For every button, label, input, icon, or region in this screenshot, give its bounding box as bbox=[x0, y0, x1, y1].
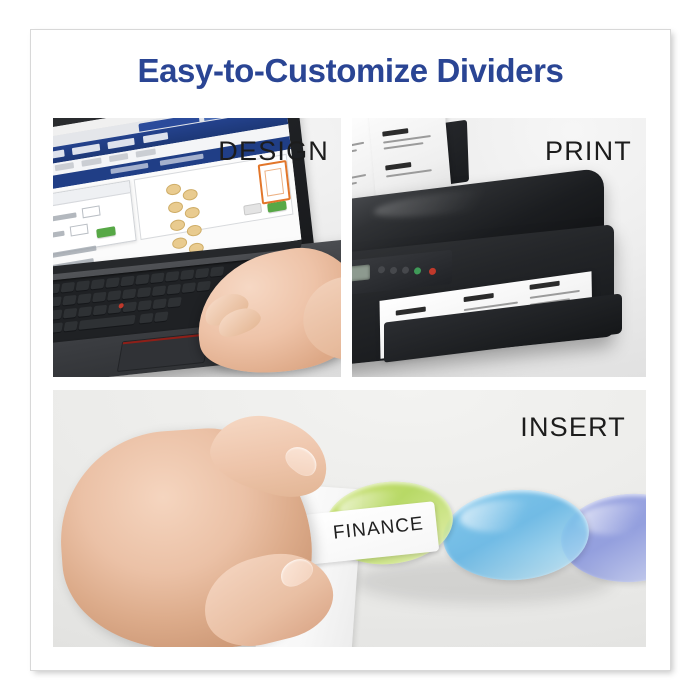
toolbar-icon bbox=[54, 162, 74, 171]
app-header-chip bbox=[53, 150, 64, 162]
divider-tab-shape bbox=[168, 201, 184, 214]
printer-button[interactable] bbox=[402, 266, 409, 274]
panel-label-print: PRINT bbox=[545, 136, 632, 167]
toolbar-icon bbox=[136, 148, 156, 157]
settings-dialog bbox=[53, 180, 137, 259]
panel-print: PRINT bbox=[352, 118, 646, 377]
app-header-chip bbox=[107, 138, 135, 150]
divider-tab-shape bbox=[184, 206, 200, 219]
thumbnail-nail bbox=[281, 441, 323, 481]
divider-tab-shape bbox=[170, 219, 186, 232]
screenshot-root: Easy-to-Customize Dividers bbox=[0, 0, 700, 700]
panel-label-insert: INSERT bbox=[520, 412, 626, 443]
dialog-primary-button[interactable] bbox=[96, 226, 116, 238]
app-header-chip bbox=[72, 144, 100, 156]
printer-start-button[interactable] bbox=[414, 267, 421, 275]
toolbar-icon bbox=[109, 153, 129, 162]
panel-insert: FINANCE INSERT bbox=[53, 390, 646, 647]
dialog-input[interactable] bbox=[82, 205, 101, 218]
divider-tab-shape bbox=[172, 236, 188, 249]
toolbar-icon bbox=[82, 158, 102, 167]
divider-tab-shape bbox=[166, 183, 182, 196]
dialog-input[interactable] bbox=[70, 224, 89, 237]
cancel-button[interactable] bbox=[243, 203, 262, 216]
subnav-item bbox=[110, 163, 149, 174]
product-image-card: Easy-to-Customize Dividers bbox=[31, 30, 670, 670]
touchpad-accent-line bbox=[123, 333, 209, 344]
dialog-field-label bbox=[53, 212, 77, 224]
divider-tab-shape bbox=[182, 188, 198, 201]
panel-label-design: DESIGN bbox=[218, 136, 329, 167]
dialog-field-label bbox=[53, 231, 65, 241]
panel-design: DESIGN bbox=[53, 118, 341, 377]
laptop-touchpad[interactable] bbox=[117, 332, 210, 372]
divider-tab-shape bbox=[186, 224, 202, 237]
page-title: Easy-to-Customize Dividers bbox=[31, 52, 670, 90]
app-header-chip bbox=[143, 132, 168, 143]
printer-button[interactable] bbox=[378, 266, 385, 274]
printer-button[interactable] bbox=[390, 267, 397, 275]
tab-gloss-highlight bbox=[458, 497, 545, 535]
printer-stop-button[interactable] bbox=[429, 267, 436, 275]
printer-lcd-display bbox=[352, 264, 370, 282]
